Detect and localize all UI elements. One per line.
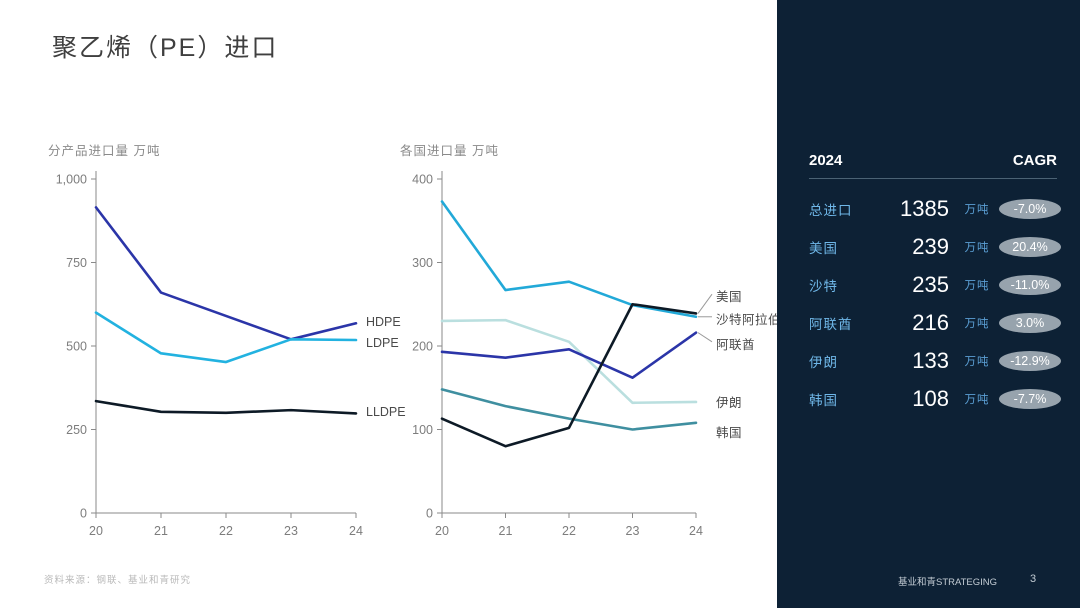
svg-text:24: 24 (689, 524, 703, 538)
svg-text:21: 21 (154, 524, 168, 538)
row-value: 235 (871, 272, 955, 298)
row-cagr-cell: -11.0% (999, 275, 1061, 295)
series-label-us: 美国 (716, 286, 742, 305)
row-unit: 万吨 (955, 391, 999, 407)
row-label: 沙特 (809, 275, 871, 295)
row-cagr-cell: -7.0% (999, 199, 1061, 219)
row-cagr-cell: -7.7% (999, 389, 1061, 409)
svg-text:21: 21 (499, 524, 513, 538)
chart-by-country-canvas: 01002003004002021222324 美国 沙特阿拉伯 阿联酋 伊朗 … (396, 165, 756, 555)
row-value: 108 (871, 386, 955, 412)
table-row: 美国239万吨20.4% (809, 228, 1061, 266)
summary-panel-header: 2024 CAGR (809, 152, 1057, 169)
series-line-韩国 (442, 389, 696, 429)
svg-text:400: 400 (412, 173, 433, 187)
row-cagr-cell: 3.0% (999, 313, 1061, 333)
series-label-iran: 伊朗 (716, 392, 742, 411)
chart-by-product-subtitle: 分产品进口量 万吨 (48, 140, 384, 159)
status-badge: -12.9% (999, 351, 1061, 371)
svg-text:300: 300 (412, 256, 433, 270)
leader-line (698, 294, 712, 313)
summary-panel-divider (809, 178, 1057, 179)
status-badge: -7.0% (999, 199, 1061, 219)
svg-text:100: 100 (412, 423, 433, 437)
svg-text:20: 20 (89, 524, 103, 538)
row-value: 239 (871, 234, 955, 260)
series-line-LLDPE (96, 401, 356, 413)
row-value: 133 (871, 348, 955, 374)
summary-panel-year: 2024 (809, 152, 842, 169)
svg-text:24: 24 (349, 524, 363, 538)
series-label-korea: 韩国 (716, 422, 742, 441)
row-label: 伊朗 (809, 351, 871, 371)
status-badge: -11.0% (999, 275, 1061, 295)
row-value: 1385 (871, 196, 955, 222)
row-cagr-cell: 20.4% (999, 237, 1061, 257)
series-line-沙特阿拉伯 (442, 202, 696, 317)
svg-text:1,000: 1,000 (56, 173, 87, 187)
table-row: 沙特235万吨-11.0% (809, 266, 1061, 304)
summary-panel: 2024 CAGR 总进口1385万吨-7.0%美国239万吨20.4%沙特23… (777, 0, 1080, 608)
row-label: 总进口 (809, 199, 871, 219)
table-row: 韩国108万吨-7.7% (809, 380, 1061, 418)
svg-text:0: 0 (426, 507, 433, 521)
leader-line (698, 333, 712, 342)
chart-by-country-subtitle: 各国进口量 万吨 (400, 140, 756, 159)
chart-by-product-svg: 02505007501,0002021222324 (44, 165, 384, 555)
series-label-ldpe: LDPE (366, 336, 399, 350)
chart-by-country: 各国进口量 万吨 01002003004002021222324 美国 沙特阿拉… (396, 140, 756, 555)
summary-panel-cagr-header: CAGR (1013, 152, 1057, 169)
table-row: 阿联酋216万吨3.0% (809, 304, 1061, 342)
status-badge: -7.7% (999, 389, 1061, 409)
svg-text:23: 23 (284, 524, 298, 538)
row-unit: 万吨 (955, 201, 999, 217)
table-row: 总进口1385万吨-7.0% (809, 190, 1061, 228)
svg-text:22: 22 (562, 524, 576, 538)
slide-root: 聚乙烯（PE）进口 分产品进口量 万吨 02505007501,00020212… (0, 0, 1080, 608)
svg-text:750: 750 (66, 256, 87, 270)
svg-text:20: 20 (435, 524, 449, 538)
series-line-美国 (442, 304, 696, 446)
svg-text:250: 250 (66, 423, 87, 437)
status-badge: 20.4% (999, 237, 1061, 257)
chart-by-country-svg: 01002003004002021222324 (396, 165, 756, 555)
row-value: 216 (871, 310, 955, 336)
series-label-uae: 阿联酋 (716, 334, 755, 353)
brand-mark: 基业和青STRATEGING (898, 574, 997, 588)
svg-text:23: 23 (626, 524, 640, 538)
page-number: 3 (1030, 573, 1036, 585)
page-title: 聚乙烯（PE）进口 (52, 28, 278, 64)
table-row: 伊朗133万吨-12.9% (809, 342, 1061, 380)
row-label: 韩国 (809, 389, 871, 409)
row-label: 阿联酋 (809, 313, 871, 333)
series-line-伊朗 (442, 320, 696, 403)
row-unit: 万吨 (955, 277, 999, 293)
source-note: 资料来源：钢联、基业和青研究 (44, 572, 191, 586)
svg-text:500: 500 (66, 340, 87, 354)
series-line-LDPE (96, 313, 356, 362)
chart-by-product: 分产品进口量 万吨 02505007501,0002021222324 HDPE… (44, 140, 384, 555)
status-badge: 3.0% (999, 313, 1061, 333)
series-line-阿联酋 (442, 333, 696, 378)
row-label: 美国 (809, 237, 871, 257)
row-unit: 万吨 (955, 315, 999, 331)
svg-text:22: 22 (219, 524, 233, 538)
chart-by-product-canvas: 02505007501,0002021222324 HDPE LDPE LLDP… (44, 165, 384, 555)
row-unit: 万吨 (955, 239, 999, 255)
series-label-saudi: 沙特阿拉伯 (716, 309, 781, 328)
series-line-HDPE (96, 207, 356, 339)
svg-text:0: 0 (80, 507, 87, 521)
row-cagr-cell: -12.9% (999, 351, 1061, 371)
row-unit: 万吨 (955, 353, 999, 369)
svg-text:200: 200 (412, 340, 433, 354)
summary-table: 总进口1385万吨-7.0%美国239万吨20.4%沙特235万吨-11.0%阿… (809, 190, 1061, 418)
